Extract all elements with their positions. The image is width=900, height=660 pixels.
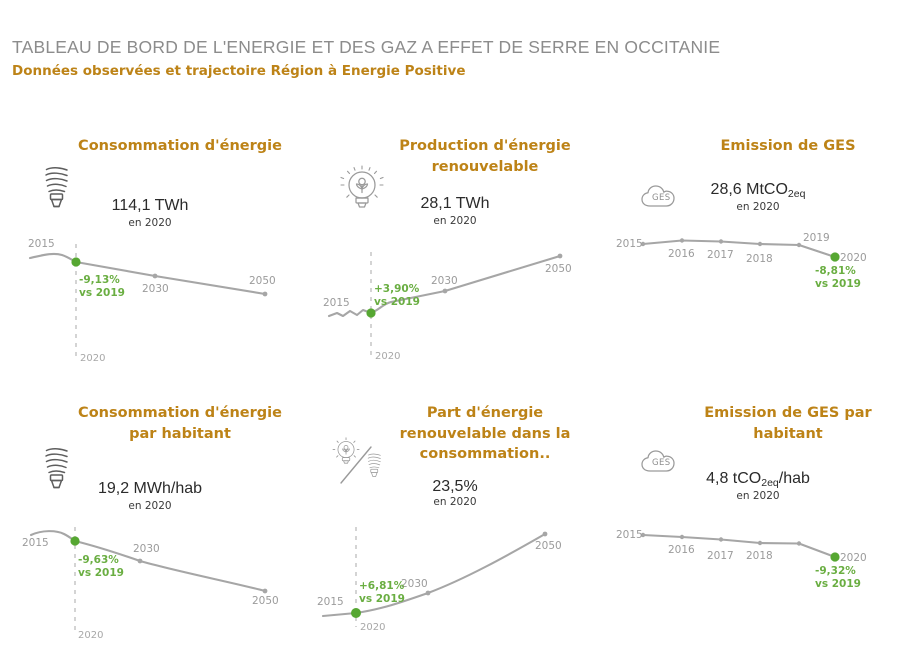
chart-consommation-energie[interactable]: 2015 2030 2050 2020 -9,13% vs 2019 [0,236,300,376]
year-label-2020: 2020 [375,351,400,362]
panel-consommation-energie-par-habitant[interactable]: Consommation d'énergie par habitant 19,2… [0,395,300,660]
delta-reference: vs 2019 [359,593,405,605]
year-label-2020: 2020 [80,353,105,364]
chart-emission-ges[interactable]: 2015 2016 2017 2018 2019 2020 -8,81% vs … [608,226,900,366]
chart-production-energie-renouvelable[interactable]: 2015 2030 2050 2020 +3,90% vs 2019 [305,234,605,374]
year-label-2030: 2030 [431,275,458,287]
delta-reference: vs 2019 [815,578,861,590]
panel-value: 28,1 TWh [305,194,605,214]
panel-part-energie-renouvelable[interactable]: Part d'énergie renouvelable dans la cons… [305,395,605,660]
chart-emission-ges-par-habitant[interactable]: 2015 2016 2017 2018 2020 -9,32% vs 2019 [608,517,900,657]
delta-value: -8,81% [815,265,856,277]
panel-value-year: en 2020 [0,216,300,230]
panel-title: Emission de GES [676,136,900,157]
year-label-2019: 2019 [803,232,830,244]
delta-reference: vs 2019 [374,296,420,308]
year-label-2020: 2020 [360,622,385,633]
panel-value: 19,2 MWh/hab [0,479,300,499]
panel-value-year: en 2020 [305,495,605,509]
page-subtitle: Données observées et trajectoire Région … [12,61,872,81]
delta-value: -9,13% [79,274,120,286]
year-label-2050: 2050 [545,263,572,275]
year-label-2016: 2016 [668,544,695,556]
panel-value: 4,8 tCO2eq/hab [608,469,900,490]
year-label-2050: 2050 [535,540,562,552]
panel-title: Emission de GES par habitant [676,403,900,444]
panel-consommation-energie[interactable]: Consommation d'énergie 114,1 TWh en 2020… [0,128,300,393]
year-label-2018: 2018 [746,253,773,265]
panel-title: Consommation d'énergie [68,136,292,157]
chart-consommation-energie-par-habitant[interactable]: 2015 2030 2050 2020 -9,63% vs 2019 [0,519,300,659]
panel-title: Consommation d'énergie par habitant [68,403,292,444]
delta-value: -9,32% [815,565,856,577]
year-label-2050: 2050 [252,595,279,607]
year-label-2015: 2015 [616,529,643,541]
year-label-2017: 2017 [707,550,734,562]
dashboard-header: TABLEAU DE BORD DE L'ENERGIE ET DES GAZ … [12,36,872,81]
panel-value-year: en 2020 [608,489,900,503]
panel-emission-ges-par-habitant[interactable]: Emission de GES par habitant GES 4,8 tCO… [608,395,900,660]
delta-value: +3,90% [374,283,420,295]
panel-value: 114,1 TWh [0,196,300,216]
year-label-2015: 2015 [323,297,350,309]
delta-value: -9,63% [78,554,119,566]
year-label-2017: 2017 [707,249,734,261]
value-suffix: /hab [779,470,810,487]
delta-reference: vs 2019 [815,278,861,290]
year-label-2020: 2020 [78,630,103,641]
year-label-2015: 2015 [616,238,643,250]
value-subscript: 2eq [788,188,806,200]
panel-title: Part d'énergie renouvelable dans la cons… [373,403,597,465]
panel-value-year: en 2020 [0,499,300,513]
svg-text:GES: GES [652,458,671,468]
year-label-2016: 2016 [668,248,695,260]
year-label-2020: 2020 [840,552,867,564]
value-subscript: 2eq [761,477,779,489]
panel-value-year: en 2020 [305,214,605,228]
year-label-2050: 2050 [249,275,276,287]
year-label-2020: 2020 [840,252,867,264]
panel-production-energie-renouvelable[interactable]: Production d'énergie renouvelable [305,128,605,393]
year-label-2018: 2018 [746,550,773,562]
year-label-2015: 2015 [22,537,49,549]
panel-value: 23,5% [305,477,605,497]
page-title: TABLEAU DE BORD DE L'ENERGIE ET DES GAZ … [12,36,872,58]
chart-part-energie-renouvelable[interactable]: 2015 2030 2050 2020 +6,81% vs 2019 [305,517,605,657]
year-label-2030: 2030 [142,283,169,295]
delta-value: +6,81% [359,580,405,592]
year-label-2030: 2030 [133,543,160,555]
delta-reference: vs 2019 [79,287,125,299]
year-label-2015: 2015 [28,238,55,250]
year-label-2030: 2030 [401,578,428,590]
year-label-2015: 2015 [317,596,344,608]
panel-title: Production d'énergie renouvelable [373,136,597,177]
panel-value-year: en 2020 [608,200,900,214]
panel-value: 28,6 MtCO2eq [608,180,900,201]
panel-emission-ges[interactable]: Emission de GES GES 28,6 MtCO2eq en 2020… [608,128,900,393]
delta-reference: vs 2019 [78,567,124,579]
